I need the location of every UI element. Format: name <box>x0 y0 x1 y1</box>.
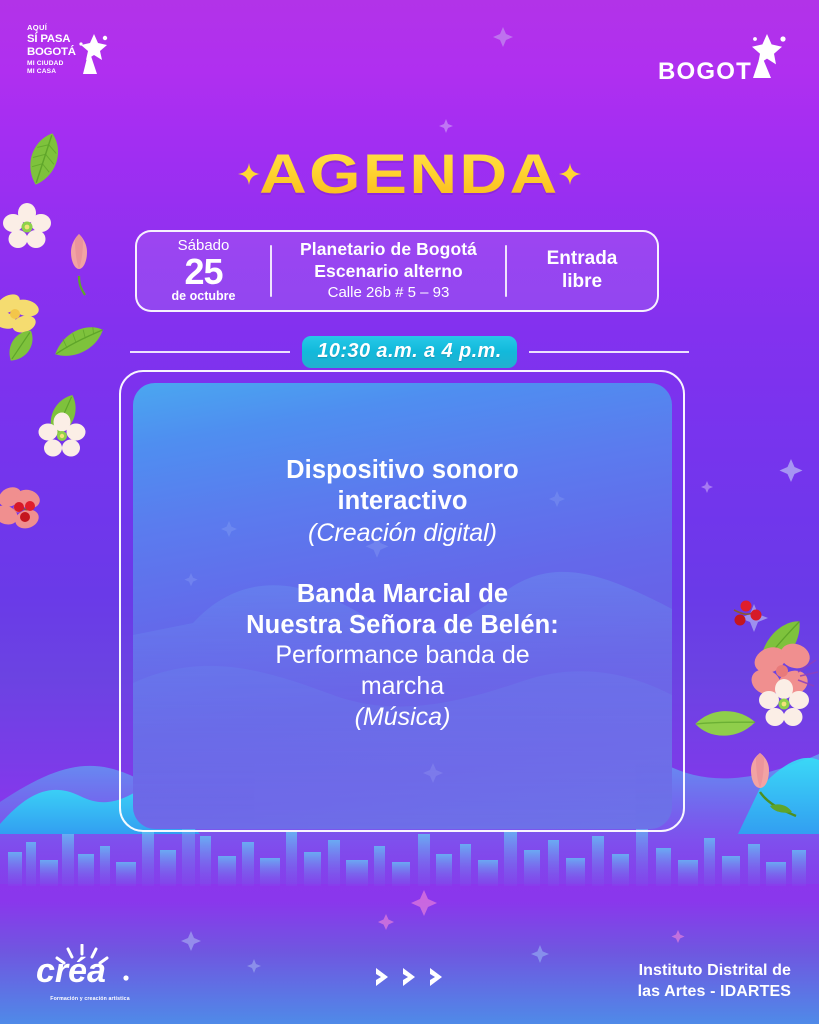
event-month: de octubre <box>172 290 236 304</box>
venue-name: Planetario de Bogotá <box>300 239 477 260</box>
program-item-1: Dispositivo sonoro interactivo (Creación… <box>175 455 630 549</box>
bogota-wordmark-logo: BOGOT <box>658 34 791 84</box>
program-1-title-line-1: Dispositivo sonoro <box>175 455 630 486</box>
star-decoration <box>778 458 804 484</box>
event-info-box: Sábado 25 de octubre Planetario de Bogot… <box>135 230 659 312</box>
event-date-cell: Sábado 25 de octubre <box>137 232 270 310</box>
event-admission-cell: Entrada libre <box>507 232 657 310</box>
chevron-right-icon-2 <box>401 966 419 988</box>
star-decoration-2 <box>492 26 514 48</box>
tulip-decoration <box>62 228 96 296</box>
chevron-right-icon-1 <box>374 966 392 988</box>
venue-subname: Escenario alterno <box>314 261 463 282</box>
program-item-2: Banda Marcial de Nuestra Señora de Belén… <box>175 579 630 733</box>
idartes-credit: Instituto Distrital de las Artes - IDART… <box>638 961 791 1002</box>
star-icon <box>77 32 111 82</box>
title-row: AGENDA <box>0 144 819 208</box>
program-content: Dispositivo sonoro interactivo (Creación… <box>133 383 672 733</box>
admission-line-1: Entrada <box>547 248 618 271</box>
star-icon-left <box>238 163 260 190</box>
leaf-decoration-3 <box>42 390 84 442</box>
star-icon-right <box>559 163 581 190</box>
berries-decoration <box>10 498 44 532</box>
event-day-number: 25 <box>184 254 222 289</box>
event-venue-cell: Planetario de Bogotá Escenario alterno C… <box>272 232 505 310</box>
star-decoration-7 <box>700 480 714 494</box>
program-2-desc-line-1: Performance banda de <box>175 640 630 671</box>
white-flower-decoration-2 <box>758 678 810 730</box>
program-2-title-line-1: Banda Marcial de <box>175 579 630 610</box>
time-rule-right <box>529 351 689 353</box>
pink-flower-decoration <box>0 483 54 541</box>
program-1-title-line-2: interactivo <box>175 486 630 517</box>
schedule-time-row: 10:30 a.m. a 4 p.m. <box>0 336 819 368</box>
program-panel: Dispositivo sonoro interactivo (Creación… <box>133 383 672 829</box>
star-decoration-6 <box>530 944 550 964</box>
leaf-decoration-4 <box>746 618 816 674</box>
berries-decoration-2 <box>724 598 770 642</box>
bogota-city-logo: AQUÍ SÍ PASA BOGOTÁ MI CIUDAD MI CASA <box>27 24 107 75</box>
time-badge: 10:30 a.m. a 4 p.m. <box>302 336 516 368</box>
leaf-decoration-5 <box>692 700 758 748</box>
star-decoration-4 <box>180 930 202 952</box>
bogota-wordmark-text: BOGOT <box>658 60 752 84</box>
poster-canvas: AQUÍ SÍ PASA BOGOTÁ MI CIUDAD MI CASA BO… <box>0 0 819 1024</box>
time-rule-left <box>130 351 290 353</box>
program-2-desc-line-2: marcha <box>175 671 630 702</box>
crea-tagline: Formación y creación artística <box>30 996 150 1002</box>
page-title: AGENDA <box>259 144 560 208</box>
flower-decoration <box>2 202 52 252</box>
admission-line-2: libre <box>562 271 602 294</box>
star-decoration-3 <box>438 118 454 134</box>
venue-address: Calle 26b # 5 – 93 <box>328 283 450 303</box>
hibiscus-decoration <box>748 638 819 710</box>
program-1-category: (Creación digital) <box>175 518 630 549</box>
star-icon-bogota <box>743 34 791 83</box>
idartes-line-2: las Artes - IDARTES <box>638 982 791 1002</box>
chevron-right-icon-3 <box>428 966 446 988</box>
white-flower-decoration <box>38 412 86 460</box>
idartes-line-1: Instituto Distrital de <box>638 961 791 981</box>
program-2-category: (Música) <box>175 702 630 733</box>
program-2-title-line-2: Nuestra Señora de Belén: <box>175 610 630 641</box>
tulip-decoration-2 <box>740 750 810 822</box>
